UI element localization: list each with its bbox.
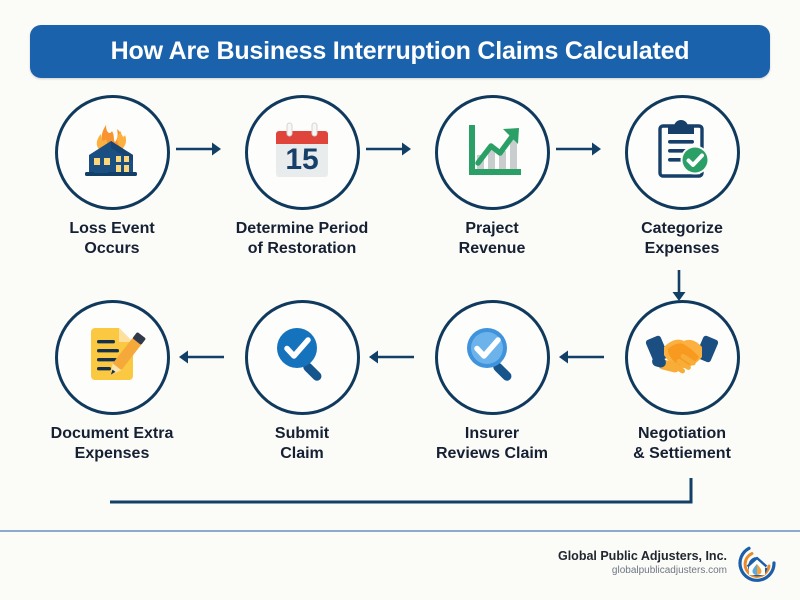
footer-branding: Global Public Adjusters, Inc. globalpubl… [558, 542, 778, 584]
arrow-expenses-to-negotiation [670, 270, 688, 304]
step-label: Submit Claim [222, 424, 382, 465]
step-icon-circle: 15 [245, 95, 360, 210]
step-node-submit-claim[interactable]: Submit Claim [222, 300, 382, 465]
document-pencil-icon [77, 320, 147, 395]
step-node-insurer-reviews-claim[interactable]: Insurer Reviews Claim [412, 300, 572, 465]
arrow-insurer-to-submit [366, 348, 414, 366]
step-icon-circle [625, 300, 740, 415]
arrow-revenue-to-expenses [556, 140, 604, 158]
arrow-submit-to-document [176, 348, 224, 366]
step-node-loss-event[interactable]: Loss Event Occurs [32, 95, 192, 260]
step-label: Loss Event Occurs [32, 219, 192, 260]
step-icon-circle [435, 95, 550, 210]
step-label: Negotiation & Settiement [602, 424, 762, 465]
title-banner: How Are Business Interruption Claims Cal… [30, 25, 770, 78]
loop-connector-line [108, 478, 698, 508]
step-node-project-revenue[interactable]: Praject Revenue [412, 95, 572, 260]
footer-website[interactable]: globalpublicadjusters.com [558, 564, 727, 578]
handshake-icon [644, 317, 720, 398]
step-icon-circle [55, 300, 170, 415]
footer-divider [0, 530, 800, 532]
arrow-negotiation-to-insurer [556, 348, 604, 366]
footer-text-group: Global Public Adjusters, Inc. globalpubl… [558, 548, 727, 579]
magnifier-check-dark-icon [267, 320, 337, 395]
step-label: Categorize Expenses [602, 219, 762, 260]
swirl-house-logo [736, 542, 778, 584]
step-node-categorize-expenses[interactable]: Categorize Expenses [602, 95, 762, 260]
step-icon-circle [625, 95, 740, 210]
arrow-period-to-revenue [366, 140, 414, 158]
growth-chart-icon [457, 115, 527, 190]
magnifier-check-light-icon [457, 320, 527, 395]
step-icon-circle [245, 300, 360, 415]
step-node-document-extra-expenses[interactable]: Document Extra Expenses [32, 300, 192, 465]
step-node-determine-period[interactable]: 15 Determine Period of Restoration [222, 95, 382, 260]
burning-building-icon [75, 113, 149, 192]
arrow-loss-to-period [176, 140, 224, 158]
step-node-negotiation-settlement[interactable]: Negotiation & Settiement [602, 300, 762, 465]
clipboard-check-icon [647, 115, 717, 190]
step-label: Document Extra Expenses [32, 424, 192, 465]
infographic-canvas: How Are Business Interruption Claims Cal… [0, 0, 800, 600]
calendar-day-text: 15 [285, 143, 318, 176]
footer-company-name: Global Public Adjusters, Inc. [558, 548, 727, 565]
step-label: Determine Period of Restoration [222, 219, 382, 260]
step-icon-circle [55, 95, 170, 210]
step-icon-circle [435, 300, 550, 415]
step-label: Praject Revenue [412, 219, 572, 260]
calendar-icon: 15 [268, 119, 336, 187]
page-title: How Are Business Interruption Claims Cal… [111, 37, 690, 66]
step-label: Insurer Reviews Claim [412, 424, 572, 465]
